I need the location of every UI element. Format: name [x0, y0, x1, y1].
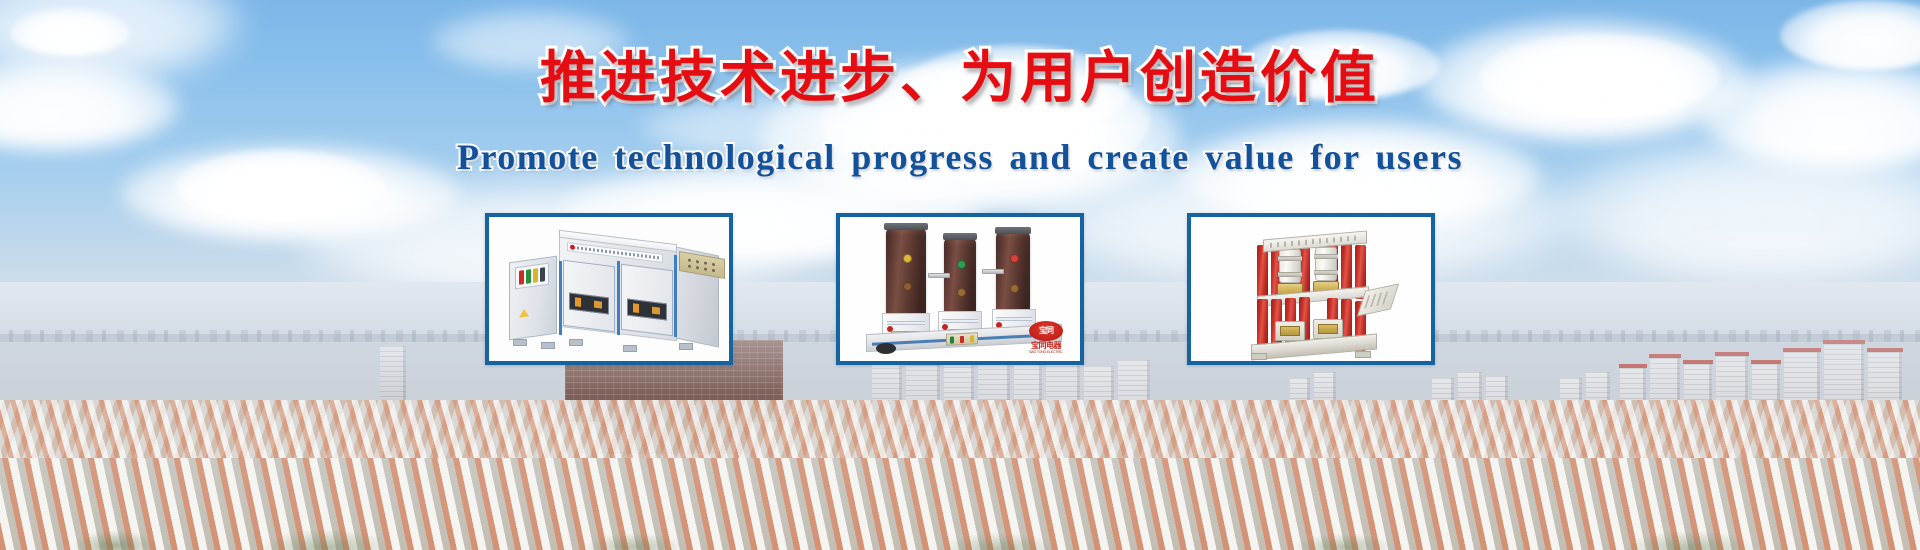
- frame-foot: [1355, 351, 1371, 358]
- contactor-side-bracket: [982, 269, 1004, 274]
- vacuum-interrupter: [1315, 247, 1337, 281]
- cabinet-foot: [541, 342, 555, 349]
- brand-logo-english: BAO TONG ELECTRIC: [1026, 351, 1066, 355]
- phase-indicator-icon: [957, 260, 966, 269]
- contactor-terminal-block: [946, 332, 978, 346]
- cabinet-divider-rail: [617, 261, 620, 335]
- nameplate-logo-icon: [570, 244, 575, 250]
- insulator-rod: [1257, 245, 1268, 299]
- product-card-row: 宝同 宝同电器 BAO TONG ELECTRIC: [0, 213, 1920, 365]
- product-image-switchgear-cabinet: [489, 217, 729, 361]
- contactor-side-bracket: [928, 273, 950, 278]
- product-image-vacuum-contactor: 宝同 宝同电器 BAO TONG ELECTRIC: [840, 217, 1080, 361]
- operating-mechanism-box: [1275, 321, 1305, 341]
- product-image-vacuum-interrupter-stack: [1191, 217, 1431, 361]
- product-card-vacuum-interrupter-stack[interactable]: [1187, 213, 1435, 365]
- contactor-caster-wheel: [876, 343, 896, 354]
- vacuum-contactor-illustration: 宝同 宝同电器 BAO TONG ELECTRIC: [840, 217, 1080, 361]
- product-card-vacuum-contactor[interactable]: 宝同 宝同电器 BAO TONG ELECTRIC: [836, 213, 1084, 365]
- headline-container: 推进技术进步、为用户创造价值: [0, 48, 1920, 111]
- interrupter-frame: [1247, 233, 1379, 355]
- product-card-switchgear-cabinet[interactable]: [485, 213, 733, 365]
- headline-chinese: 推进技术进步、为用户创造价值: [540, 48, 1380, 111]
- subtitle-english: Promote technological progress and creat…: [457, 136, 1463, 178]
- interrupter-stack-illustration: [1191, 217, 1431, 361]
- brand-logo-oval-icon: 宝同: [1029, 321, 1063, 341]
- cabinet-foot: [569, 339, 583, 346]
- phase-indicator-icon: [903, 282, 912, 291]
- cabinet-divider-rail: [559, 261, 562, 335]
- phase-indicator-icon: [1010, 254, 1019, 263]
- phase-indicator-icon: [957, 288, 966, 297]
- cabinet-foot: [623, 345, 637, 352]
- tree-canopy: [0, 496, 1920, 550]
- cabinet-foot: [679, 343, 693, 350]
- phase-indicator-icon: [1010, 284, 1019, 293]
- insulator-rod: [1257, 299, 1268, 349]
- frame-foot: [1251, 353, 1267, 360]
- promo-banner: 推进技术进步、为用户创造价值 Promote technological pro…: [0, 0, 1920, 550]
- phase-indicator-icon: [903, 254, 912, 263]
- subtitle-container: Promote technological progress and creat…: [0, 136, 1920, 178]
- warning-triangle-icon: [519, 308, 529, 317]
- brand-logo: 宝同 宝同电器 BAO TONG ELECTRIC: [1026, 321, 1066, 354]
- switchgear-cabinet-illustration: [489, 217, 729, 361]
- insulating-cylinder: [886, 228, 926, 316]
- cabinet-foot: [513, 339, 527, 346]
- cabinet-divider-rail: [674, 255, 677, 337]
- vacuum-interrupter: [1279, 249, 1301, 283]
